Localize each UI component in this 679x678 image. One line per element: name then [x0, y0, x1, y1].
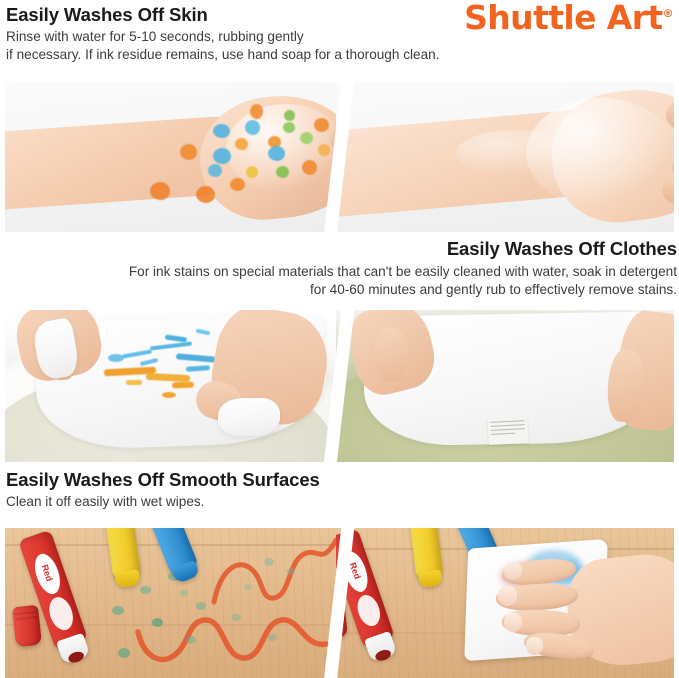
section-skin-heading: Easily Washes Off Skin [6, 5, 439, 26]
registered-trademark-icon: ® [663, 7, 673, 20]
red-ink-squiggle-top [210, 532, 340, 610]
red-marker-cap [12, 605, 42, 647]
section-skin-text: Easily Washes Off Skin Rinse with water … [6, 5, 439, 65]
photo-stained-shirt [0, 310, 343, 462]
section-clothes-photo-row [0, 310, 679, 462]
brand-name: Shuttle Art [464, 0, 662, 37]
section-clothes-heading: Easily Washes Off Clothes [129, 239, 677, 260]
photo-clean-shirt [336, 310, 679, 462]
section-clothes-body-line-2: for 40-60 minutes and gently rub to effe… [129, 281, 677, 300]
section-skin-photo-row [0, 82, 679, 232]
product-feature-page: Shuttle Art® Easily Washes Off Skin Rins… [0, 0, 679, 678]
section-clothes-text: Easily Washes Off Clothes For ink stains… [129, 239, 677, 300]
section-smooth-photo-row: Red [0, 528, 679, 678]
section-skin-body-line-1: Rinse with water for 5-10 seconds, rubbi… [6, 28, 439, 47]
section-smooth-text: Easily Washes Off Smooth Surfaces Clean … [6, 470, 320, 511]
photo-wiping-ink: Red [336, 528, 679, 678]
photo-clean-hand [336, 82, 679, 232]
photo-markers-scribbles: Red [0, 528, 343, 678]
section-skin-body-line-2: if necessary. If ink residue remains, us… [6, 46, 439, 65]
section-smooth-body-line-1: Clean it off easily with wet wipes. [6, 493, 320, 512]
section-clothes-body-line-1: For ink stains on special materials that… [129, 263, 677, 282]
shuttle-art-logo: Shuttle Art® [464, 1, 673, 34]
photo-hand-with-ink [0, 82, 343, 232]
section-smooth-heading: Easily Washes Off Smooth Surfaces [6, 470, 320, 491]
shirt-care-label [487, 417, 528, 445]
